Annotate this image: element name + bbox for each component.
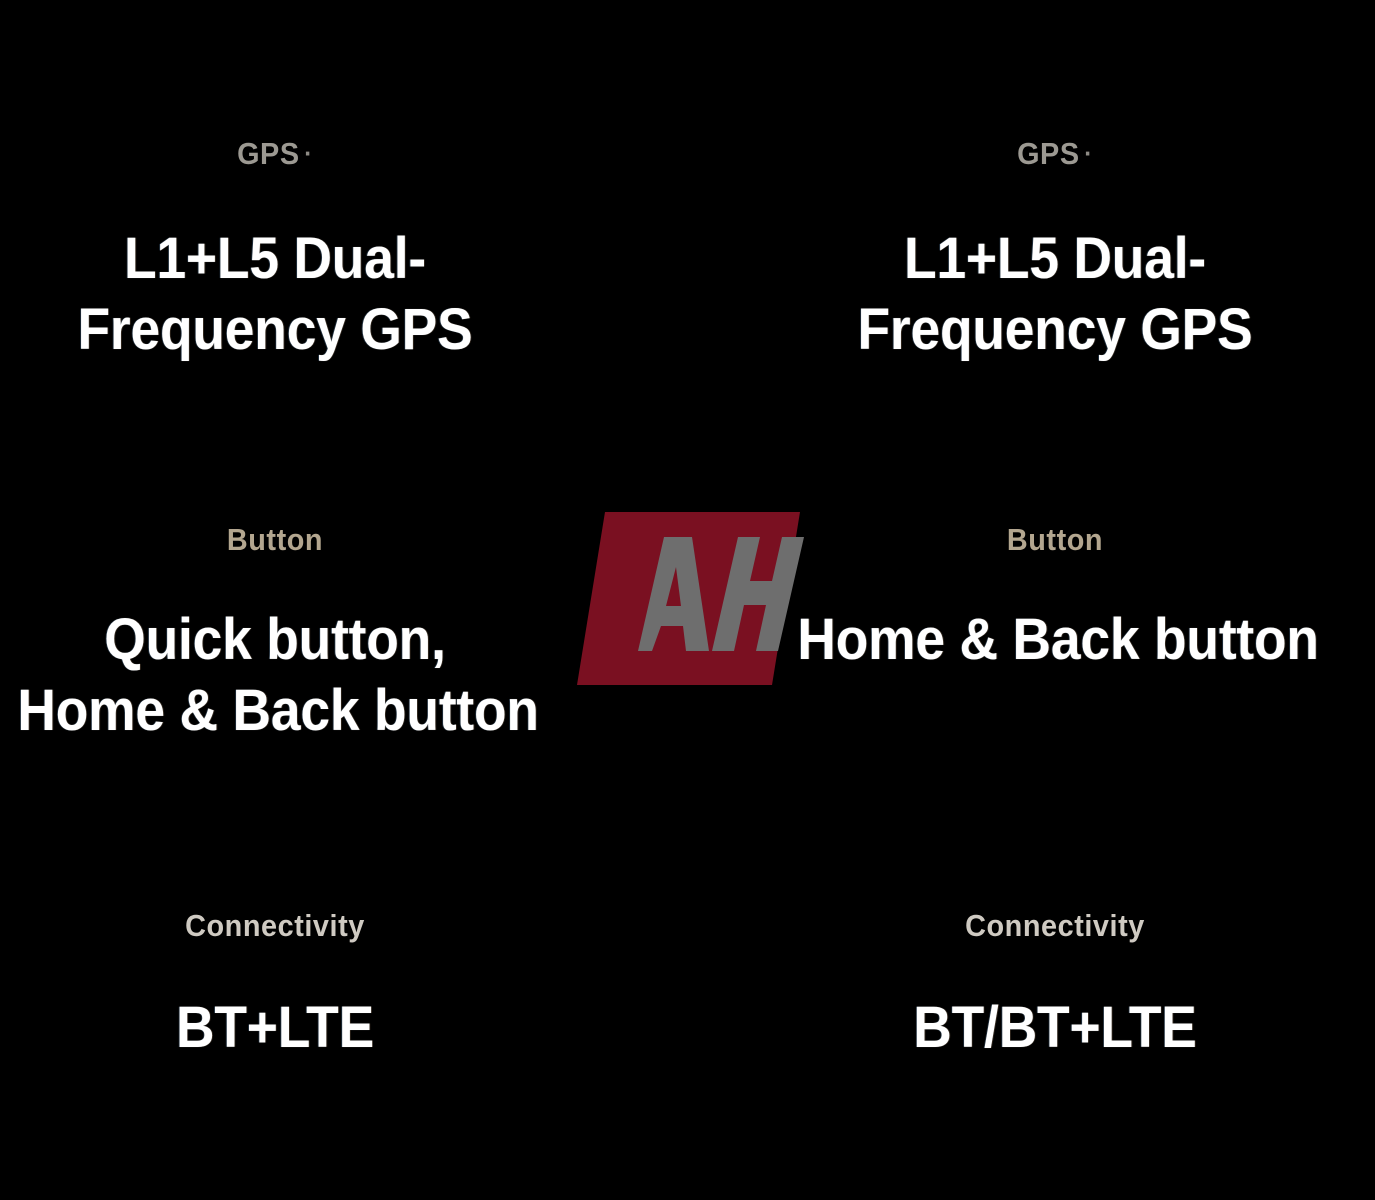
spec-value-connectivity-right: BT/BT+LTE	[797, 993, 1312, 1064]
spec-value-button-left: Quick button, Home & Back button	[17, 605, 532, 747]
spec-value-line: L1+L5 Dual-	[17, 224, 532, 295]
spec-label-button-left: Button	[15, 524, 536, 555]
spec-block-right-gps: GPS· L1+L5 Dual- Frequency GPS	[775, 138, 1335, 366]
spec-comparison-screen: GPS· L1+L5 Dual- Frequency GPS Button Qu…	[0, 0, 1375, 1200]
spec-label-connectivity-right: Connectivity	[795, 910, 1316, 941]
spec-block-right-connectivity: Connectivity BT/BT+LTE	[775, 910, 1335, 1064]
middot-icon: ·	[1080, 140, 1093, 166]
spec-value-line: Home & Back button	[797, 605, 1312, 676]
spec-label-gps-left: GPS·	[15, 138, 536, 169]
spec-label-button-right: Button	[795, 524, 1316, 555]
spec-block-right-button: Button Home & Back button	[775, 524, 1335, 676]
spec-block-left-button: Button Quick button, Home & Back button	[0, 524, 555, 747]
spec-value-line: Home & Back button	[17, 676, 532, 747]
spec-value-line: Frequency GPS	[797, 295, 1312, 366]
spec-value-button-right: Home & Back button	[797, 605, 1312, 676]
spec-label-text: GPS	[1017, 136, 1080, 171]
spec-label-gps-right: GPS·	[795, 138, 1316, 169]
spec-value-line: BT+LTE	[17, 993, 532, 1064]
spec-label-connectivity-left: Connectivity	[15, 910, 536, 941]
spec-value-line: Quick button,	[17, 605, 532, 676]
spec-value-line: BT/BT+LTE	[797, 993, 1312, 1064]
spec-value-line: Frequency GPS	[17, 295, 532, 366]
spec-block-left-connectivity: Connectivity BT+LTE	[0, 910, 555, 1064]
spec-value-connectivity-left: BT+LTE	[17, 993, 532, 1064]
middot-icon: ·	[300, 140, 313, 166]
spec-label-text: GPS	[237, 136, 300, 171]
spec-value-gps-left: L1+L5 Dual- Frequency GPS	[17, 224, 532, 366]
spec-block-left-gps: GPS· L1+L5 Dual- Frequency GPS	[0, 138, 555, 366]
spec-value-gps-right: L1+L5 Dual- Frequency GPS	[797, 224, 1312, 366]
spec-value-line: L1+L5 Dual-	[797, 224, 1312, 295]
